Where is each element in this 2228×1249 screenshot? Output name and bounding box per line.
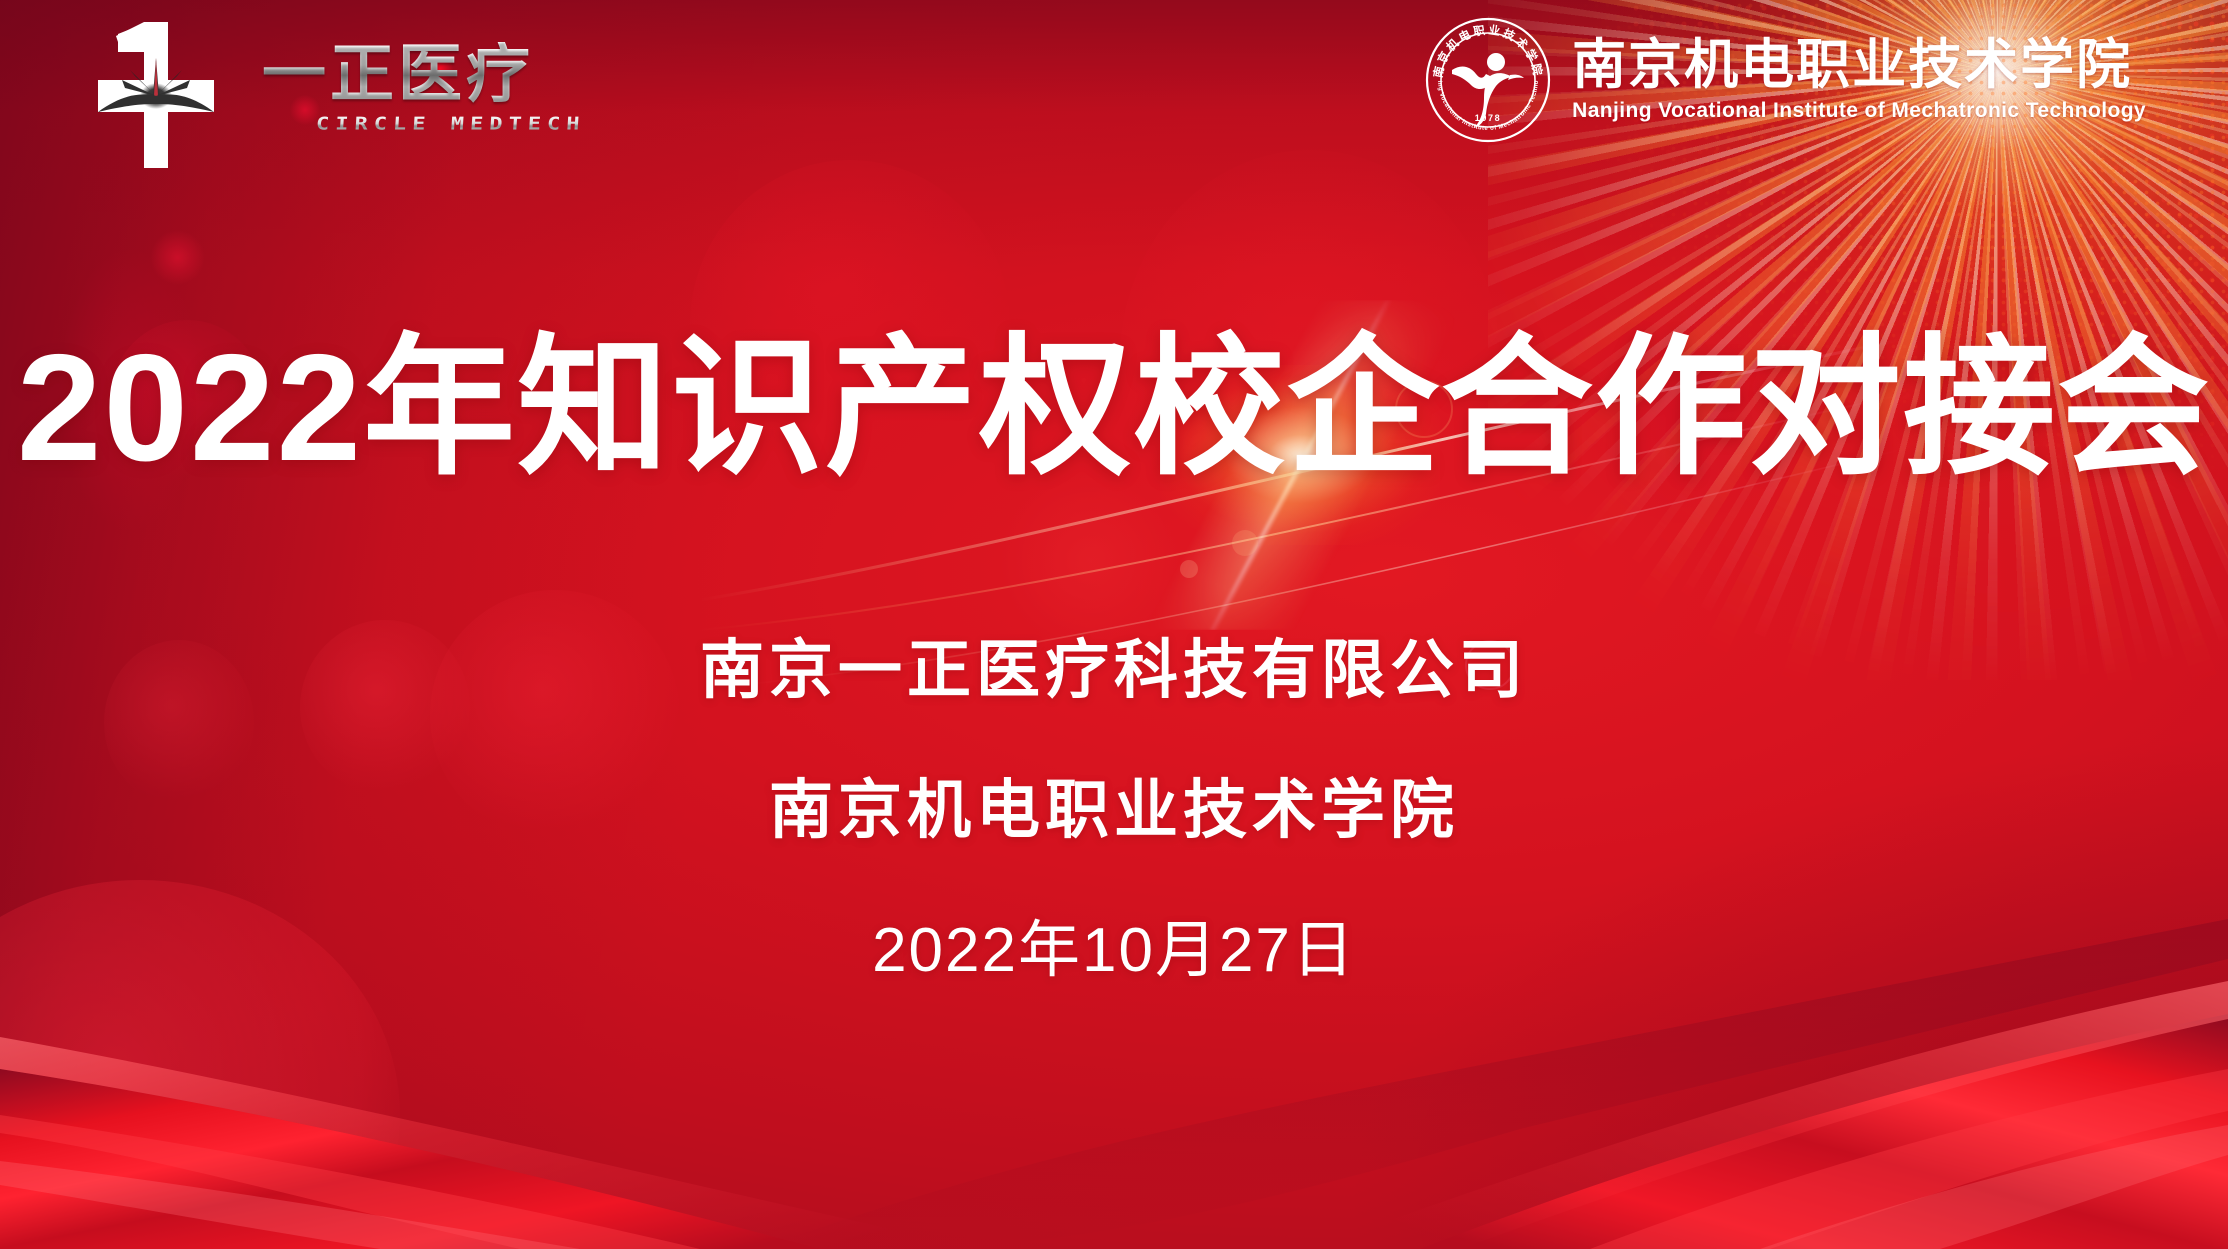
company-logo: 一正医疗 CIRCLE MEDTECH	[92, 18, 585, 168]
organizer-company: 南京一正医疗科技有限公司	[0, 638, 2228, 702]
school-name-cn: 南京机电职业技术学院	[1572, 37, 2132, 93]
company-name-en: CIRCLE MEDTECH	[315, 115, 586, 135]
event-title: 2022年知识产权校企合作对接会	[0, 332, 2228, 484]
company-brand-text: 一正医疗 CIRCLE MEDTECH	[262, 18, 585, 137]
svg-text:南京机电职业技术学院: 南京机电职业技术学院	[1431, 23, 1546, 79]
event-date: 2022年10月27日	[0, 920, 2228, 982]
cross-one-starburst-icon	[92, 18, 220, 168]
event-banner: 一正医疗 CIRCLE MEDTECH 南京机电职业技术学院 Nanjing V…	[0, 0, 2228, 1249]
event-subtitle-block: 南京一正医疗科技有限公司 南京机电职业技术学院 2022年10月27日	[0, 638, 2228, 982]
school-name-block: 南京机电职业技术学院 Nanjing Vocational Institute …	[1572, 37, 2146, 122]
company-name-cn: 一正医疗	[262, 42, 534, 106]
school-logo: 南京机电职业技术学院 Nanjing Vocational Institute …	[1424, 16, 2146, 144]
svg-text:1978: 1978	[1475, 113, 1501, 123]
school-name-en: Nanjing Vocational Institute of Mechatro…	[1572, 99, 2146, 123]
school-seal-icon: 南京机电职业技术学院 Nanjing Vocational Institute …	[1424, 16, 1552, 144]
background-bottom-right-vignette	[0, 0, 2228, 1249]
organizer-school: 南京机电职业技术学院	[0, 778, 2228, 842]
